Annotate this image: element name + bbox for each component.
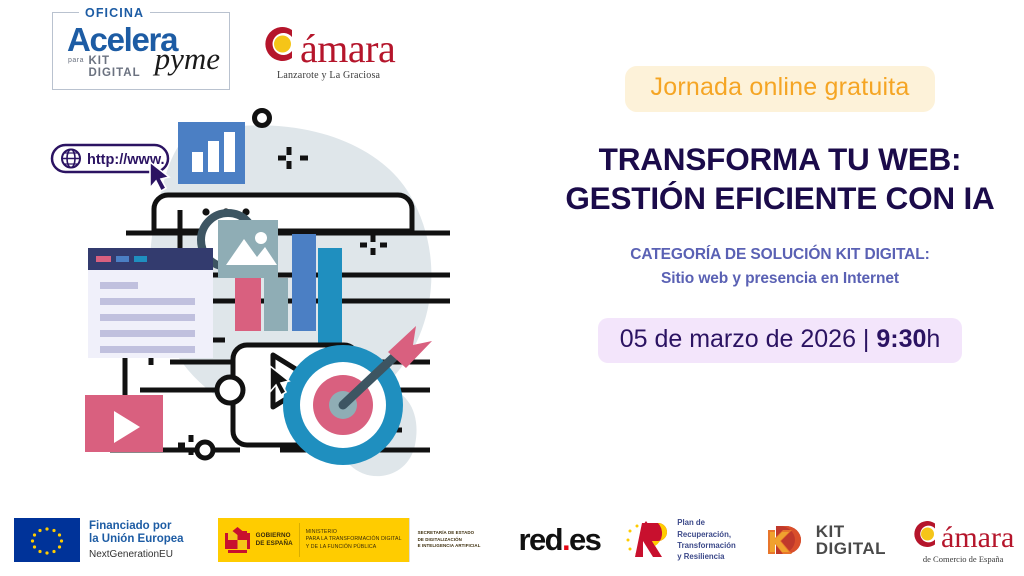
camara-comercio-wordmark: ámara xyxy=(912,517,1014,553)
camara-comercio-logo: ámara de Comercio de España xyxy=(912,517,1014,564)
camara-comercio-c-icon xyxy=(912,517,941,547)
redes-suffix: es xyxy=(569,522,600,557)
acelera-pyme-kit-label: KIT xyxy=(88,55,110,67)
spain-coat-of-arms-icon xyxy=(224,524,251,556)
page-subtitle-line-2: Sitio web y presencia en Internet xyxy=(545,267,1015,291)
page-title-line-1: TRANSFORMA TU WEB: xyxy=(545,140,1015,179)
color-bar-blue xyxy=(292,234,316,331)
prtr-logo: Plan de Recuperación, Transformación y R… xyxy=(624,517,736,562)
camara-c-icon xyxy=(262,22,300,62)
redes-text: red xyxy=(519,522,562,557)
kit-digital-line-1: KIT xyxy=(816,523,886,540)
gobierno-espana-logo: GOBIERNO DE ESPAÑA MINISTERIO PARA LA TR… xyxy=(218,518,489,562)
page-title: TRANSFORMA TU WEB: GESTIÓN EFICIENTE CON… xyxy=(545,140,1015,217)
free-session-badge: Jornada online gratuita xyxy=(625,66,936,112)
acelera-pyme-pyme-text: pyme xyxy=(155,43,220,74)
event-time-suffix: h xyxy=(926,325,940,353)
camara-lanzarote-logo: ámara Lanzarote y La Graciosa xyxy=(260,22,395,81)
gobierno-divider xyxy=(299,523,300,557)
kit-digital-line-2: DIGITAL xyxy=(816,540,886,557)
prtr-line-4: y Resiliencia xyxy=(677,551,736,562)
page-subtitle: CATEGORÍA DE SOLUCIÓN KIT DIGITAL: Sitio… xyxy=(545,243,1015,291)
prtr-text: Plan de Recuperación, Transformación y R… xyxy=(677,517,736,562)
prtr-line-2: Recuperación, xyxy=(677,529,736,540)
ministerio-line-3: Y DE LA FUNCIÓN PÚBLICA xyxy=(306,544,402,551)
ministerio-line-2: PARA LA TRANSFORMACIÓN DIGITAL xyxy=(306,536,402,543)
eu-funding-logo: Financiado por la Unión Europea NextGene… xyxy=(14,518,184,562)
event-date-badge: 05 de marzo de 2026 | 9:30h xyxy=(598,318,963,363)
event-date-text: 05 de marzo de 2026 | xyxy=(620,325,877,353)
event-info-panel: Jornada online gratuita TRANSFORMA TU WE… xyxy=(545,66,1015,363)
browser-window-top xyxy=(154,195,412,231)
gobierno-text: GOBIERNO DE ESPAÑA xyxy=(256,532,293,549)
page-subtitle-line-1: CATEGORÍA DE SOLUCIÓN KIT DIGITAL: xyxy=(545,243,1015,267)
browser-dot-1 xyxy=(202,208,209,215)
secretaria-line-1: SECRETARÍA DE ESTADO xyxy=(418,530,481,536)
acelera-pyme-kit-digital-text: para KIT DIGITAL xyxy=(68,55,141,81)
camara-comercio-name-text: ámara xyxy=(941,523,1014,553)
image-placeholder-icon xyxy=(218,220,278,278)
illustration-svg: http://www. xyxy=(30,100,530,500)
kit-digital-text: KIT DIGITAL xyxy=(816,523,886,558)
acelera-pyme-para-label: para xyxy=(68,57,84,64)
acelera-pyme-digital-label: DIGITAL xyxy=(88,67,140,79)
slider-knob-2[interactable] xyxy=(197,442,213,458)
camara-comercio-subtitle: de Comercio de España xyxy=(912,554,1014,564)
gobierno-line-2: DE ESPAÑA xyxy=(256,540,293,549)
secretaria-estado-text: SECRETARÍA DE ESTADO DE DIGITALIZACIÓN E… xyxy=(418,530,481,549)
eu-funding-line-1: Financiado por xyxy=(89,520,184,534)
event-time-text: 9:30 xyxy=(876,325,926,353)
acelera-pyme-oficina-label: OFICINA xyxy=(79,6,150,20)
camara-wordmark: ámara xyxy=(262,22,395,69)
color-bar-slate xyxy=(264,278,288,331)
eu-funding-text: Financiado por la Unión Europea NextGene… xyxy=(89,520,184,561)
page-title-line-2: GESTIÓN EFICIENTE CON IA xyxy=(545,179,1015,218)
footer-logo-bar: Financiado por la Unión Europea NextGene… xyxy=(0,504,1024,576)
color-bar-teal xyxy=(318,248,342,348)
camara-name-text: ámara xyxy=(300,29,395,69)
decor-circle-1 xyxy=(255,111,270,126)
redes-dot: . xyxy=(562,522,569,557)
top-logo-bar: OFICINA Acelera pyme para KIT DIGITAL ám… xyxy=(52,12,395,90)
bar-chart-bar-1 xyxy=(192,152,203,172)
secretaria-line-3: E INTELIGENCIA ARTIFICIAL xyxy=(418,543,481,549)
redes-logo: red.es xyxy=(519,522,601,558)
bar-chart-bar-3 xyxy=(224,132,235,172)
acelera-pyme-logo: OFICINA Acelera pyme para KIT DIGITAL xyxy=(52,12,230,90)
document-card-icon xyxy=(88,248,213,358)
hero-illustration: http://www. xyxy=(30,100,530,500)
secretaria-estado-block: SECRETARÍA DE ESTADO DE DIGITALIZACIÓN E… xyxy=(409,518,489,562)
eu-flag-icon xyxy=(14,518,80,562)
redes-wordmark: red.es xyxy=(519,522,601,558)
prtr-line-3: Transformación xyxy=(677,540,736,551)
slider-knob-1[interactable] xyxy=(217,377,243,403)
kit-digital-logo: KIT DIGITAL xyxy=(764,520,886,560)
prtr-line-1: Plan de xyxy=(677,517,736,528)
prtr-emblem-icon xyxy=(624,519,672,561)
ministerio-text: MINISTERIO PARA LA TRANSFORMACIÓN DIGITA… xyxy=(306,529,402,551)
kit-digital-mark-icon xyxy=(764,520,810,560)
camara-subtitle: Lanzarote y La Graciosa xyxy=(262,70,395,81)
gobierno-yellow-block: GOBIERNO DE ESPAÑA MINISTERIO PARA LA TR… xyxy=(218,518,409,562)
gobierno-line-1: GOBIERNO xyxy=(256,532,293,541)
eu-funding-line-3: NextGenerationEU xyxy=(89,549,184,561)
eu-funding-line-2: la Unión Europea xyxy=(89,533,184,547)
bar-chart-bar-2 xyxy=(208,141,219,172)
